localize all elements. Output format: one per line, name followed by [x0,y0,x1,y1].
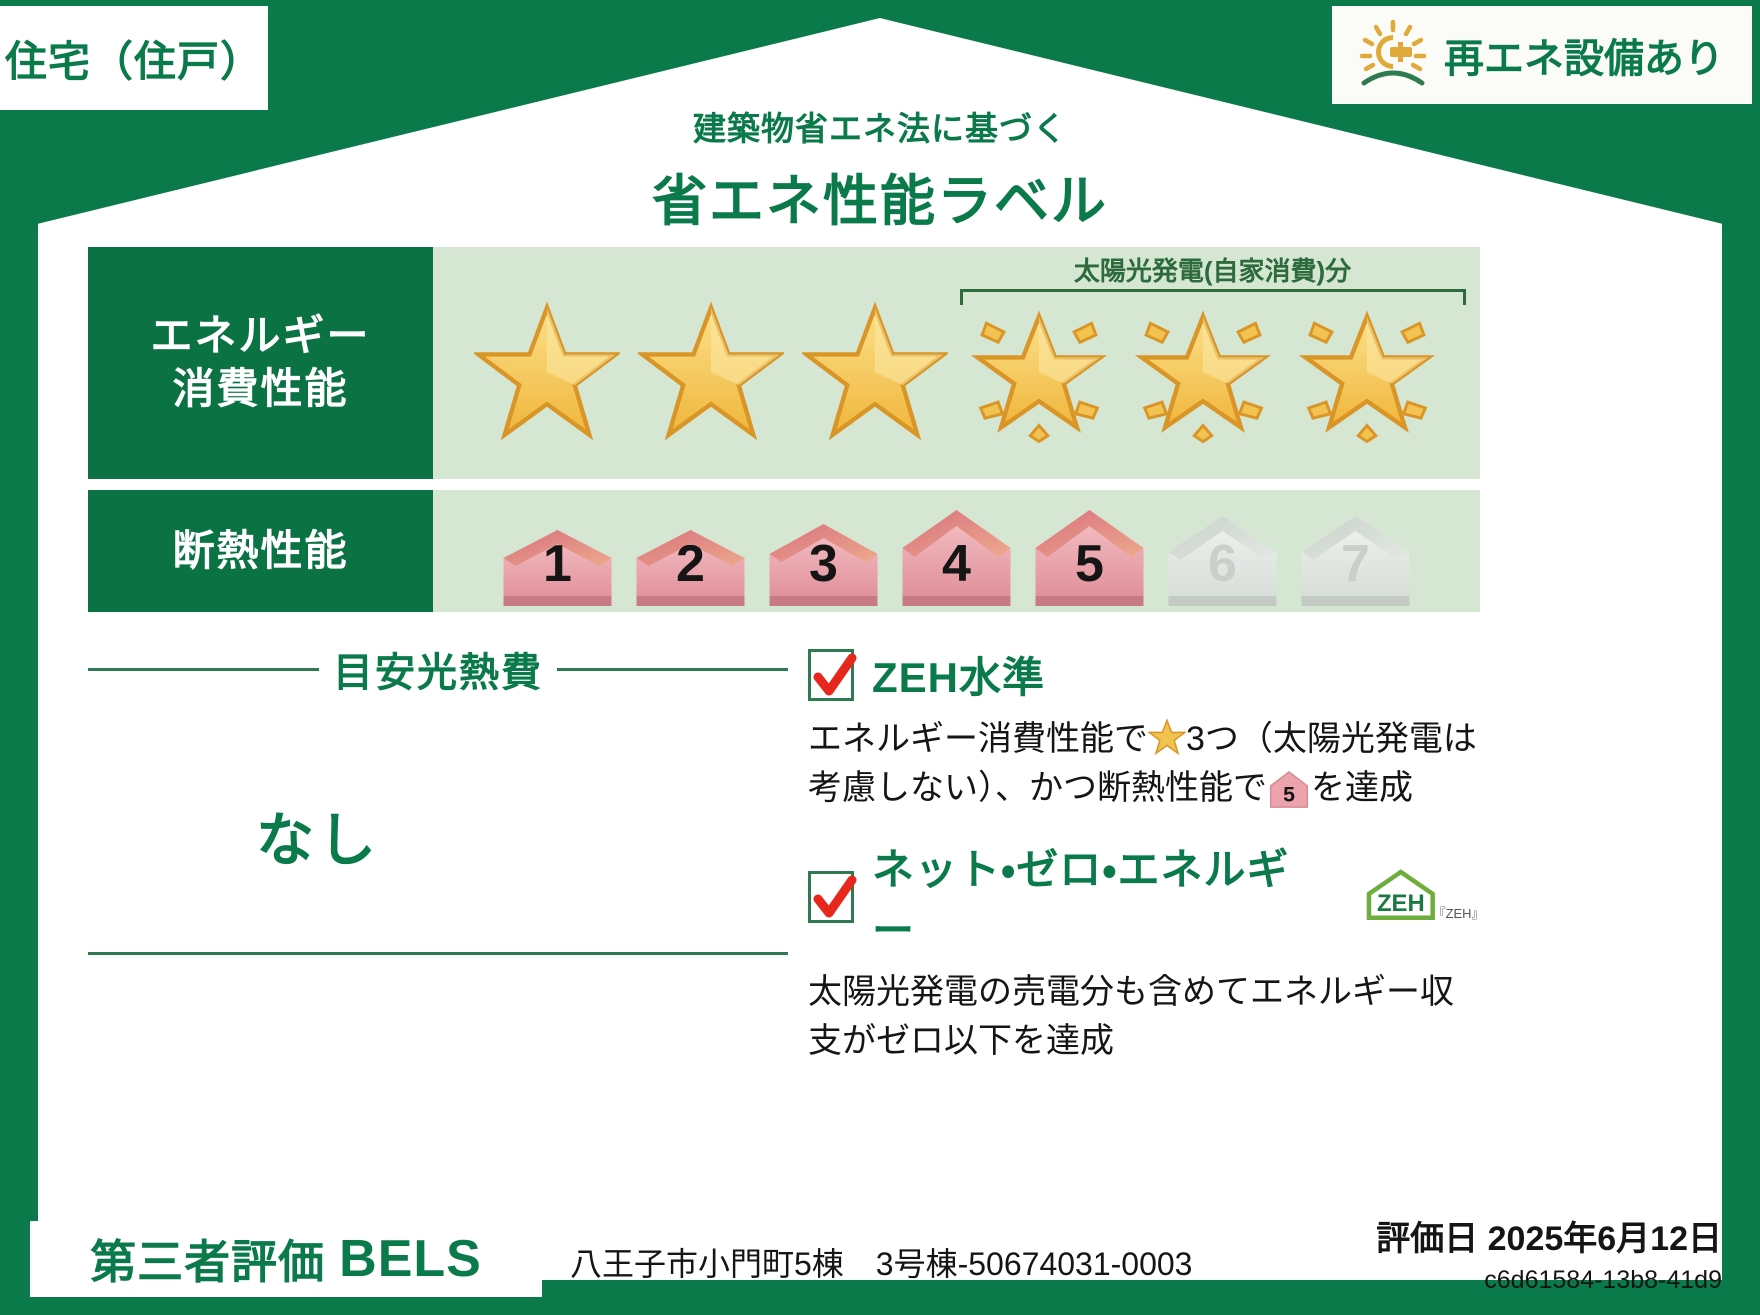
insulation-performance-value: 1 2 3 [433,490,1480,612]
insulation-level-number: 6 [1159,534,1286,594]
star-icon [802,299,948,445]
title-main: 省エネ性能ラベル [0,156,1760,236]
star-rating [433,247,1480,479]
star-item-solar [966,297,1112,447]
insulation-level-number: 3 [760,534,887,594]
insulation-level-number: 7 [1292,534,1419,594]
star-item [802,297,948,447]
star-item [638,297,784,447]
divider-right [557,668,788,671]
star-icon [966,299,1112,445]
insulation-level-number: 5 [1026,534,1153,594]
star-item [474,297,620,447]
energy-performance-label: エネルギー 消費性能 [88,247,433,479]
net-zero-energy-description: 太陽光発電の売電分も含めてエネルギー収支がゼロ以下を達成 [808,968,1480,1067]
solar-plug-icon [1354,17,1432,94]
svg-text:5: 5 [1283,782,1295,806]
insulation-performance-row: 断熱性能 1 [88,490,1480,612]
utility-cost-block: 目安光熱費 なし [88,630,788,1030]
renewable-equipment-label: 再エネ設備あり [1444,26,1724,84]
bels-jp-label: 第三者評価 [90,1226,325,1292]
building-type-label: 住宅（住戸） [5,28,263,89]
energy-performance-row: エネルギー 消費性能 太陽光発電(自家消費)分 [88,247,1480,479]
star-item-solar [1130,297,1276,447]
energy-label-line1: エネルギー [150,310,370,363]
energy-performance-value: 太陽光発電(自家消費)分 [433,247,1480,479]
label-id: c6d61584-13b8-41d9 [1376,1266,1722,1295]
insulation-level-item: 3 [760,518,887,608]
zeh-standard-title: ZEH水準 [872,644,1045,705]
star-item-solar [1294,297,1440,447]
star-icon [1148,718,1186,756]
footer: 第三者評価 BELS 八王子市小門町5棟 3号棟-50674031-0003 評… [0,1179,1760,1315]
insulation-level-item: 1 [494,524,621,608]
net-zero-energy-item: ネット・ゼロ・エネルギー ZEH 『ZEH』 [808,836,1480,958]
utility-cost-bottom-divider [88,952,788,955]
star-icon [638,299,784,445]
utility-cost-heading: 目安光熱費 [88,640,788,698]
footer-meta: 評価日 2025年6月12日 c6d61584-13b8-41d9 [1376,1211,1722,1295]
title-block: 建築物省エネ法に基づく 省エネ性能ラベル [0,102,1760,236]
zeh-desc-part3: を達成 [1311,769,1413,807]
utility-cost-heading-text: 目安光熱費 [333,640,543,698]
zeh-standard-description: エネルギー消費性能で3つ（太陽光発電は考慮しない）、かつ断熱性能で5を達成 [808,715,1480,814]
check-icon [808,649,854,701]
property-address: 八王子市小門町5棟 3号棟-50674031-0003 [570,1239,1192,1285]
net-zero-energy-title: ネット・ゼロ・エネルギー [872,836,1331,958]
house-icon: 5 [1267,769,1311,813]
svg-text:『ZEH』: 『ZEH』 [1432,905,1480,920]
star-icon [1294,299,1440,445]
star-icon [1130,299,1276,445]
zeh-block: ZEH水準 エネルギー消費性能で3つ（太陽光発電は考慮しない）、かつ断熱性能で5… [788,630,1480,1030]
insulation-level-number: 2 [627,534,754,594]
building-type-badge: 住宅（住戸） [0,6,268,110]
insulation-level-number: 4 [893,534,1020,594]
insulation-level-item: 2 [627,524,754,608]
energy-label-line2: 消費性能 [172,363,348,416]
insulation-level-scale: 1 2 3 [433,490,1480,612]
bels-energy-label: 住宅（住戸） [0,0,1760,1315]
insulation-level-item: 4 [893,504,1020,608]
insulation-level-item-inactive: 7 [1292,510,1419,608]
insulation-performance-label: 断熱性能 [88,490,433,612]
evaluation-date: 評価日 2025年6月12日 [1376,1211,1722,1260]
utility-cost-value: なし [88,793,788,877]
renewable-equipment-badge: 再エネ設備あり [1332,6,1752,104]
bels-en-label: BELS [339,1229,482,1289]
insulation-level-number: 1 [494,534,621,594]
svg-text:ZEH: ZEH [1376,889,1424,916]
insulation-level-item-inactive: 6 [1159,510,1286,608]
zeh-desc-part1: エネルギー消費性能で [808,720,1148,758]
insulation-level-item: 5 [1026,504,1153,608]
zeh-logo-icon: ZEH 『ZEH』 [1361,868,1480,926]
check-icon [808,871,854,923]
divider-left [88,668,319,671]
insulation-label-text: 断熱性能 [172,525,348,578]
zeh-standard-item: ZEH水準 [808,644,1480,705]
star-icon [474,299,620,445]
bels-badge: 第三者評価 BELS [30,1221,542,1297]
lower-section: 目安光熱費 なし ZEH水準 エネルギー消費性能で3つ（太陽光発電は考慮しない）… [88,630,1480,1030]
